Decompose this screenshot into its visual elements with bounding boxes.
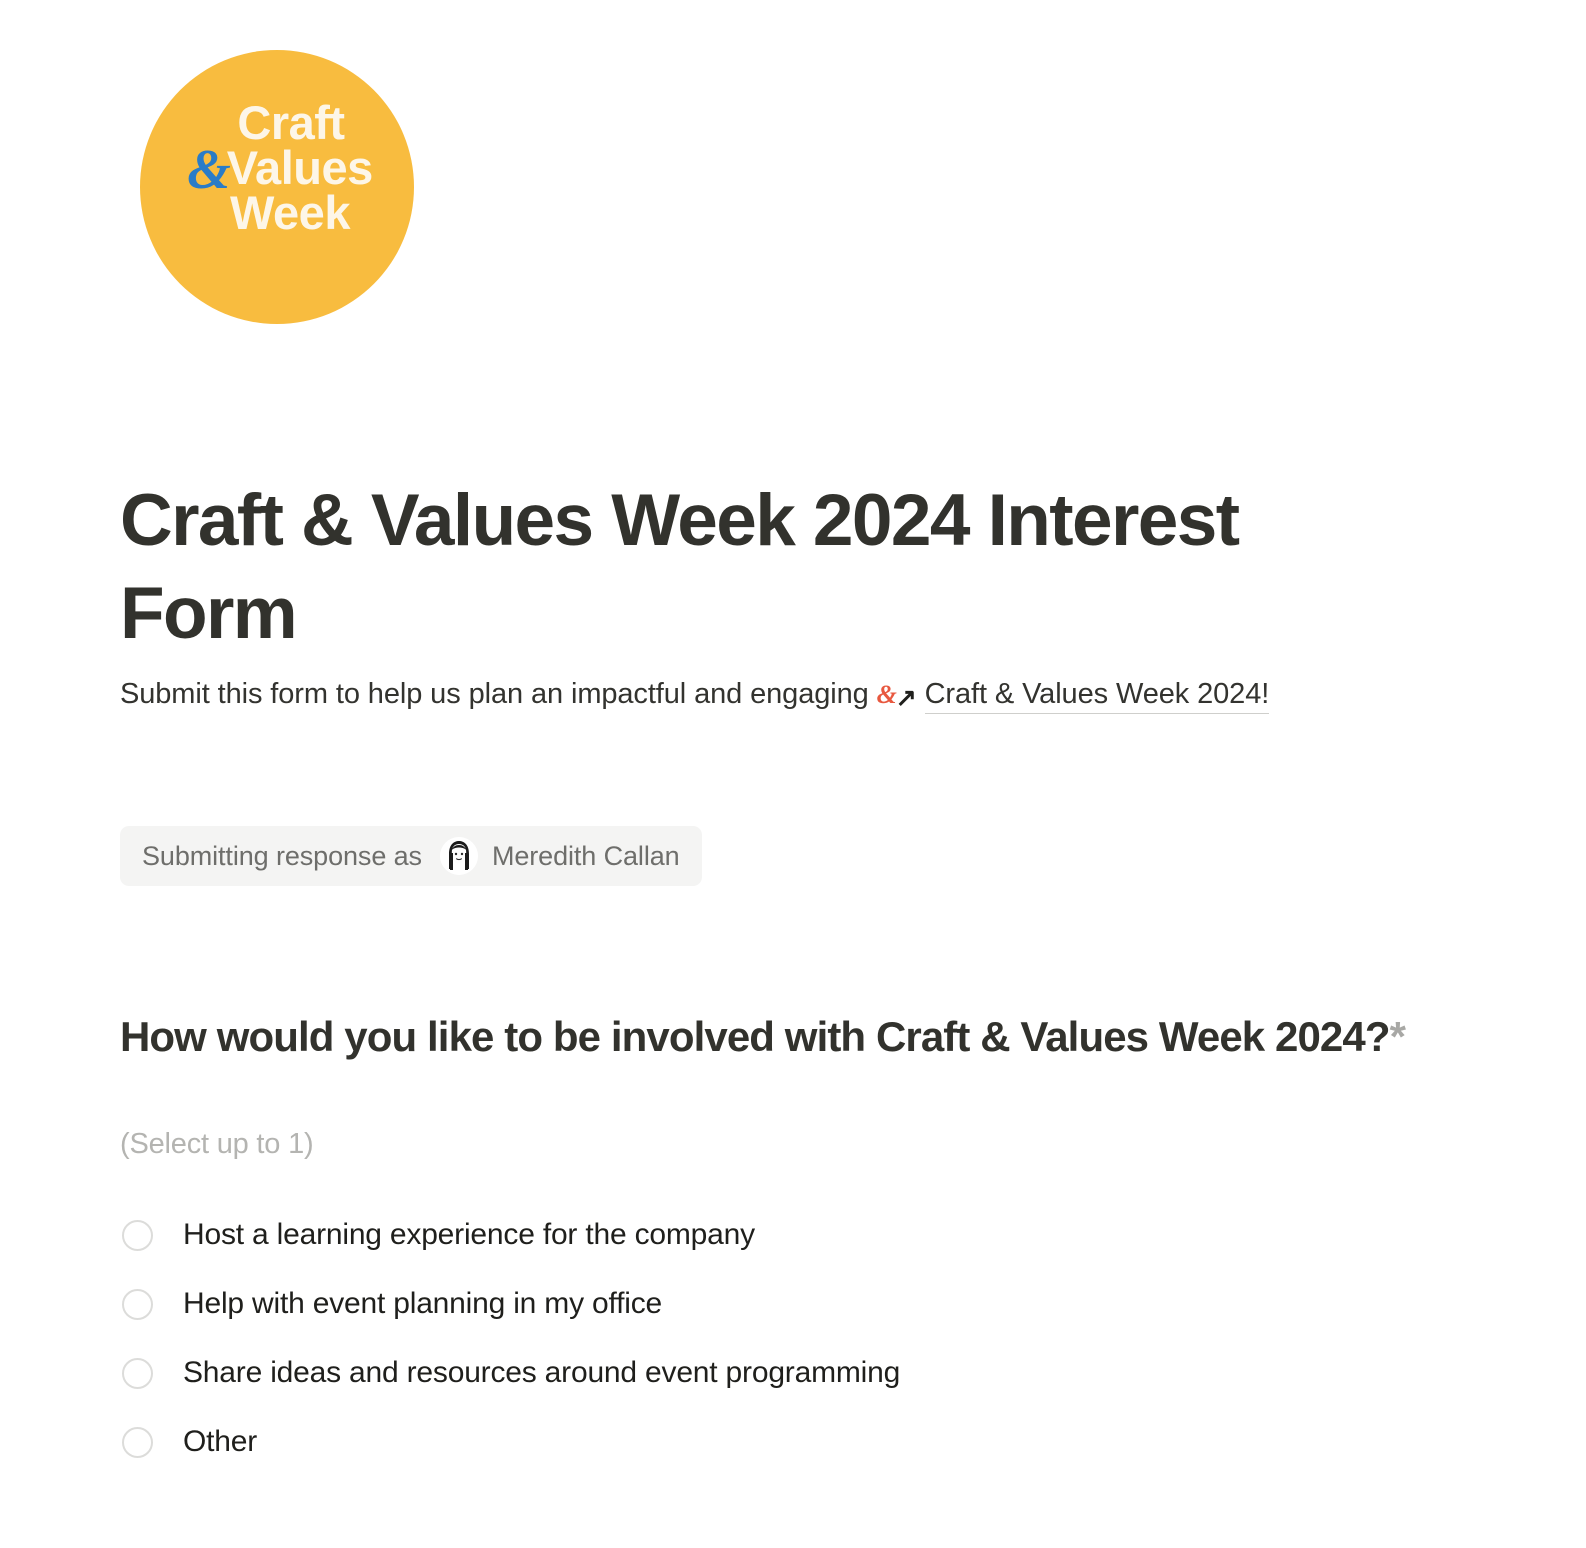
- form-page: Craft &Values Week Craft & Values Week 2…: [0, 0, 1586, 1548]
- submitting-response-as-label: Submitting response as: [142, 841, 422, 872]
- question-title: How would you like to be involved with C…: [120, 1010, 1450, 1063]
- submitting-response-as-pill: Submitting response as Meredith Callan: [120, 826, 702, 886]
- option-label: Share ideas and resources around event p…: [183, 1356, 900, 1390]
- external-link-arrow-icon: ↗: [896, 676, 917, 721]
- radio-icon[interactable]: [122, 1220, 153, 1251]
- description-text: Submit this form to help us plan an impa…: [120, 678, 877, 710]
- question-options: Host a learning experience for the compa…: [120, 1212, 1420, 1488]
- form-description: Submit this form to help us plan an impa…: [120, 668, 1370, 720]
- question-hint: (Select up to 1): [120, 1128, 313, 1161]
- logo-line-values: &Values: [140, 145, 414, 190]
- radio-icon[interactable]: [122, 1289, 153, 1320]
- option-row-0[interactable]: Host a learning experience for the compa…: [120, 1212, 1420, 1258]
- submitting-user-name: Meredith Callan: [492, 841, 680, 872]
- question-title-text: How would you like to be involved with C…: [120, 1013, 1390, 1060]
- page-title: Craft & Values Week 2024 Interest Form: [120, 474, 1300, 661]
- form-logo: Craft &Values Week: [140, 50, 414, 324]
- option-label: Host a learning experience for the compa…: [183, 1218, 755, 1252]
- radio-icon[interactable]: [122, 1358, 153, 1389]
- option-row-3[interactable]: Other: [120, 1419, 1420, 1465]
- logo-line-week: Week: [140, 190, 414, 235]
- link-ampersand-icon: &: [877, 680, 897, 709]
- logo-text: Craft &Values Week: [140, 100, 414, 235]
- craft-values-week-link[interactable]: Craft & Values Week 2024!: [925, 678, 1270, 714]
- required-asterisk: *: [1390, 1013, 1405, 1060]
- option-row-1[interactable]: Help with event planning in my office: [120, 1281, 1420, 1327]
- radio-icon[interactable]: [122, 1427, 153, 1458]
- logo-circle: Craft &Values Week: [140, 50, 414, 324]
- logo-line-craft: Craft: [140, 100, 414, 145]
- logo-ampersand-icon: &: [187, 139, 227, 201]
- avatar: [440, 837, 478, 875]
- option-label: Help with event planning in my office: [183, 1287, 662, 1321]
- option-row-2[interactable]: Share ideas and resources around event p…: [120, 1350, 1420, 1396]
- option-label: Other: [183, 1425, 257, 1459]
